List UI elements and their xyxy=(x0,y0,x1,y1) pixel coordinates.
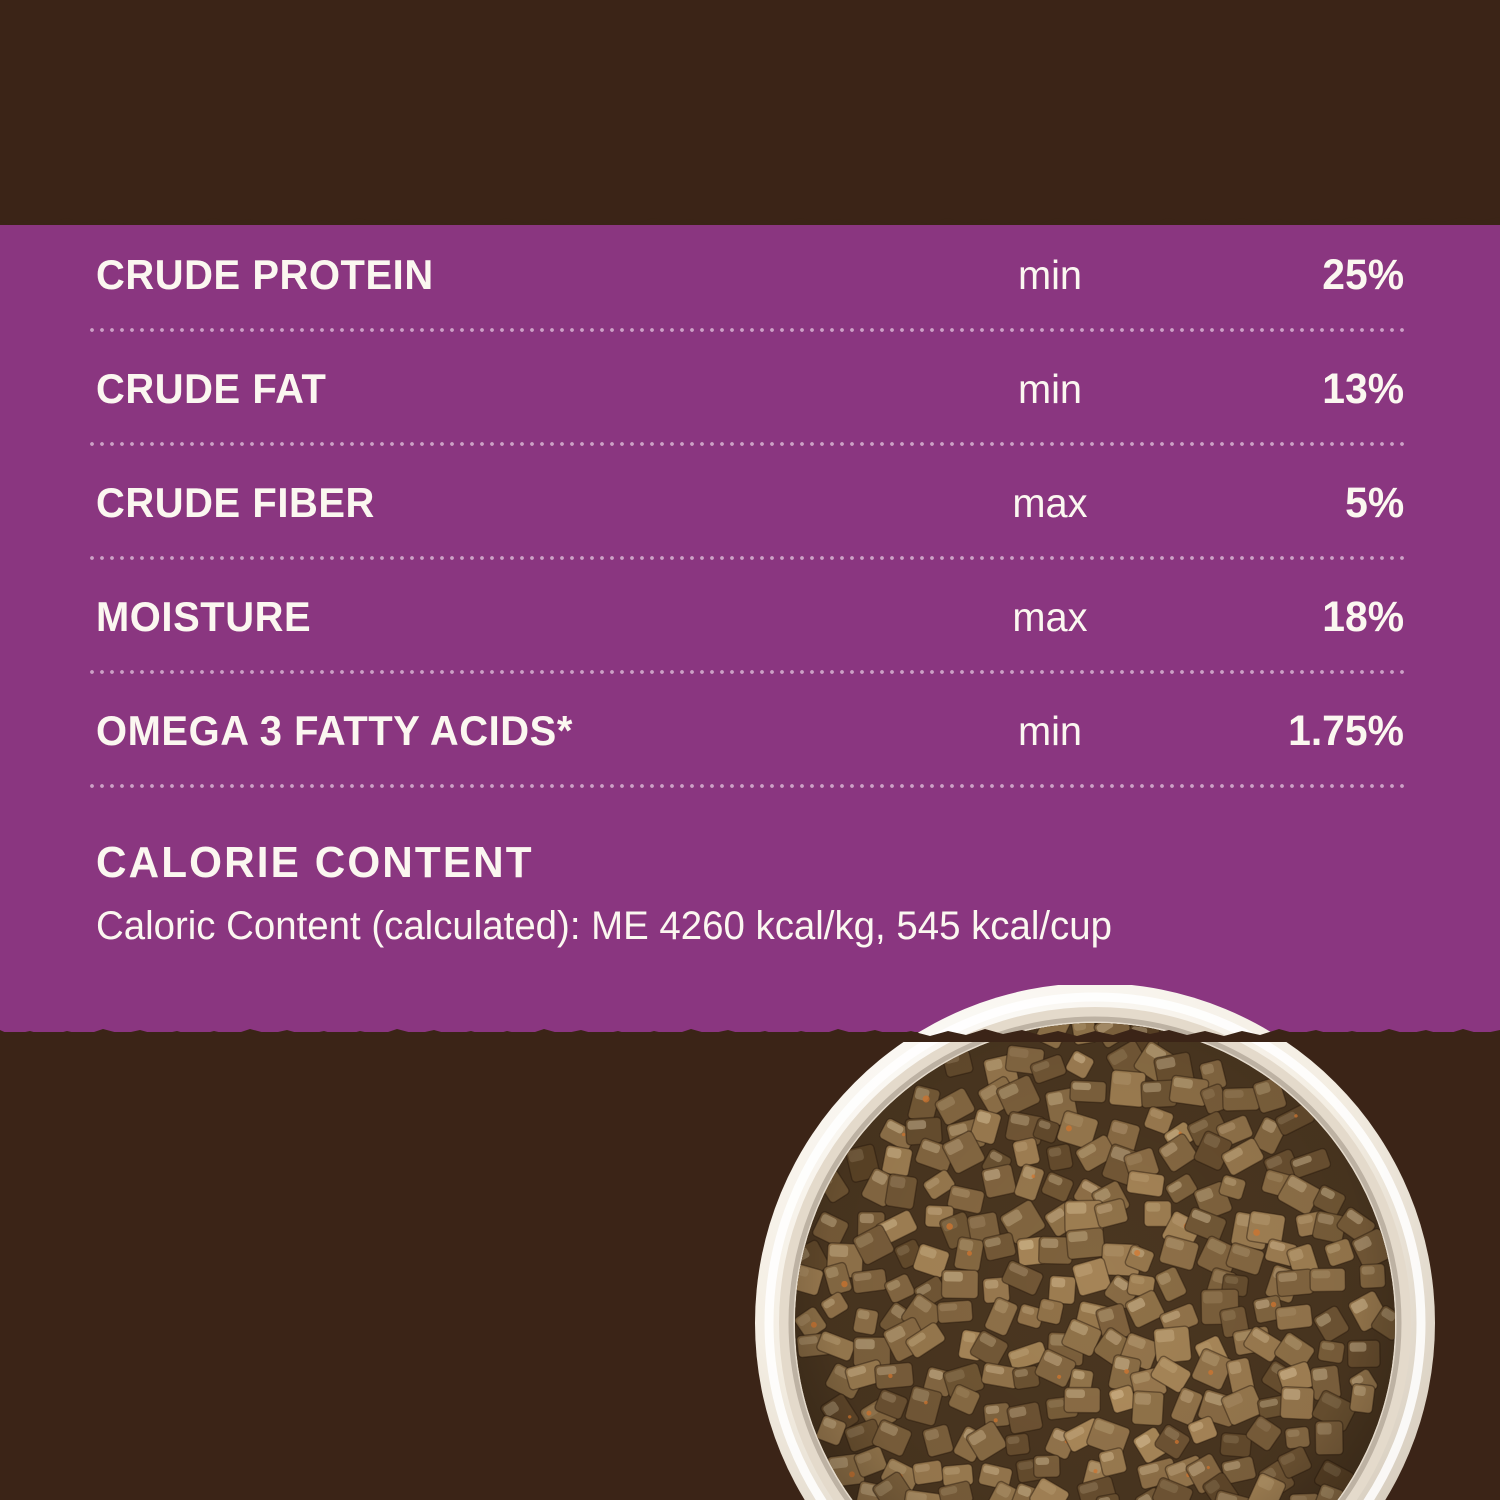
calorie-content-detail: Caloric Content (calculated): ME 4260 kc… xyxy=(96,904,1112,949)
bowl-of-kibble-image xyxy=(690,985,1500,1500)
nutrient-label: CRUDE FAT xyxy=(96,365,326,413)
header-band xyxy=(0,0,1500,225)
nutrient-qualifier: min xyxy=(992,366,1108,413)
nutrient-label: CRUDE PROTEIN xyxy=(96,251,434,299)
nutrient-label: OMEGA 3 FATTY ACIDS* xyxy=(96,707,573,755)
nutrient-label: CRUDE FIBER xyxy=(96,479,375,527)
nutrient-value: 18% xyxy=(1322,593,1404,642)
guaranteed-analysis-table: CRUDE PROTEIN min 25% CRUDE FAT min 13% … xyxy=(0,218,1500,788)
torn-edge-top-decoration xyxy=(0,212,1500,228)
nutrient-value: 13% xyxy=(1322,365,1404,414)
calorie-content-heading: CALORIE CONTENT xyxy=(96,838,1112,888)
table-row: CRUDE FAT min 13% xyxy=(0,332,1500,446)
table-row: CRUDE FIBER max 5% xyxy=(0,446,1500,560)
table-row: OMEGA 3 FATTY ACIDS* min 1.75% xyxy=(0,674,1500,788)
nutrient-qualifier: max xyxy=(992,480,1108,527)
row-divider xyxy=(90,784,1410,788)
torn-edge-bottom-decoration xyxy=(0,1026,1500,1042)
nutrient-qualifier: max xyxy=(992,594,1108,641)
nutrient-qualifier: min xyxy=(992,708,1108,755)
nutrient-qualifier: min xyxy=(992,252,1108,299)
nutrient-value: 5% xyxy=(1345,479,1404,528)
nutrient-value: 25% xyxy=(1322,251,1404,300)
table-row: MOISTURE max 18% xyxy=(0,560,1500,674)
nutrient-value: 1.75% xyxy=(1288,707,1404,756)
calorie-content-block: CALORIE CONTENT Caloric Content (calcula… xyxy=(96,838,1154,949)
kibble-bowl-graphic xyxy=(690,985,1500,1500)
nutrient-label: MOISTURE xyxy=(96,593,311,641)
table-row: CRUDE PROTEIN min 25% xyxy=(0,218,1500,332)
guaranteed-analysis-panel: GUARANTEED ANALYSIS CRUDE PROTEIN min 25… xyxy=(0,0,1500,1500)
